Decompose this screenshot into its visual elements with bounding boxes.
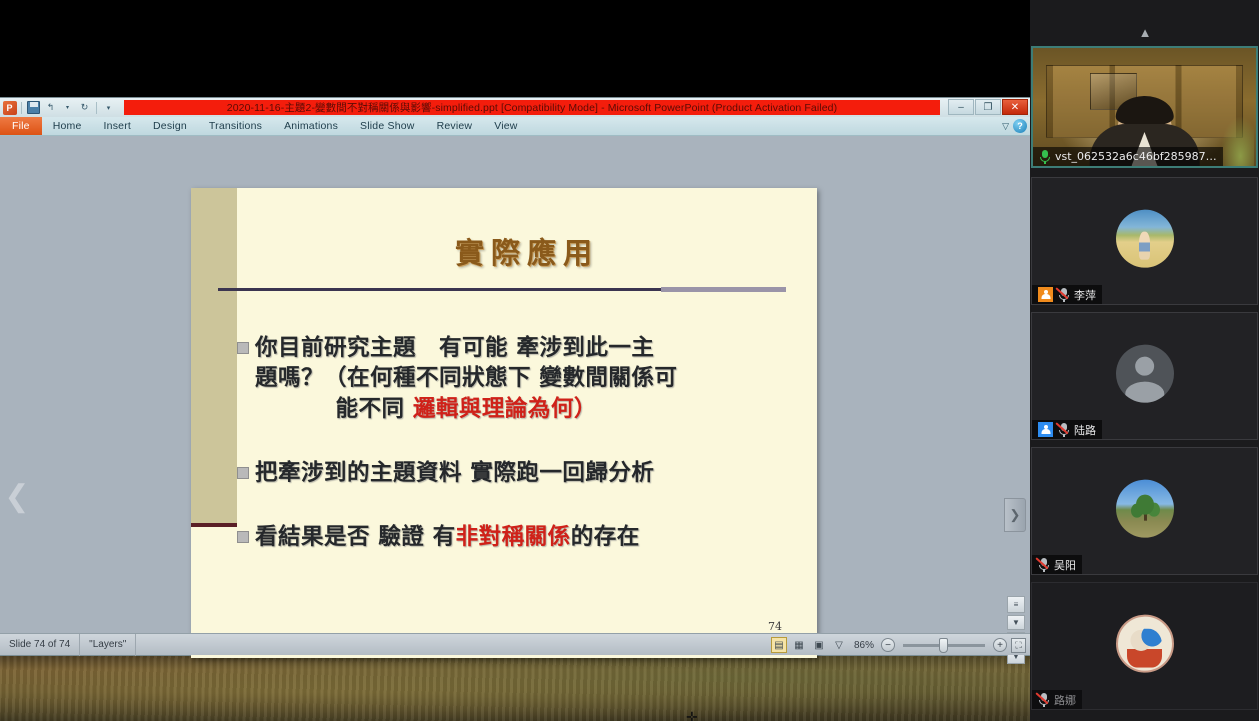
tab-review[interactable]: Review xyxy=(426,117,484,135)
participant-name: vst_062532a6c46bf285987… xyxy=(1055,150,1217,163)
background-plant xyxy=(1220,116,1254,166)
slide-page-number: 74 xyxy=(768,620,782,633)
avatar xyxy=(1116,480,1174,538)
participant-tile[interactable]: 吴阳 xyxy=(1031,447,1258,575)
bullet-line: 題嗎？（在何種不同狀態下 變數間關係可 xyxy=(255,365,677,391)
ribbon-tab-bar: File Home Insert Design Transitions Anim… xyxy=(0,117,1030,136)
bullet-line-tail: 的存在 xyxy=(571,524,640,550)
qat-divider-2 xyxy=(96,102,97,114)
tab-slide-show[interactable]: Slide Show xyxy=(349,117,426,135)
slide-work-area: ❮ ❯ 實際應用 你目前研究主題 有可能 牽涉到此一主 題嗎？（在何種不同狀態下… xyxy=(0,136,1030,633)
bullet-line: 能不同 xyxy=(335,396,412,422)
bullet-square-icon xyxy=(237,342,249,354)
microphone-muted-icon xyxy=(1038,693,1049,707)
avatar xyxy=(1116,345,1174,403)
undo-icon[interactable]: ↰ xyxy=(43,100,58,115)
participant-nameplate: 陆路 xyxy=(1032,420,1102,439)
microphone-muted-icon xyxy=(1058,288,1069,302)
ribbon-right-controls: ▽ ? xyxy=(1002,119,1027,133)
powerpoint-window: P ↰ ▾ ↻ ▾ 2020-11-16-主題2-變數間不對稱關係與影響-sim… xyxy=(0,98,1030,655)
status-slide-counter: Slide 74 of 74 xyxy=(0,634,80,656)
avatar xyxy=(1116,615,1174,673)
participant-tile[interactable]: 路娜 xyxy=(1031,582,1258,710)
participant-name: 路娜 xyxy=(1054,692,1076,708)
participant-nameplate: 路娜 xyxy=(1032,690,1082,709)
slide-sorter-button[interactable]: ▦ xyxy=(791,637,807,653)
slide-decor-band xyxy=(191,188,237,523)
powerpoint-logo-icon[interactable]: P xyxy=(2,100,17,115)
participant-tile-active-speaker[interactable]: vst_062532a6c46bf285987… xyxy=(1031,46,1258,168)
mouse-cursor: ✛ xyxy=(686,710,700,721)
tab-transitions[interactable]: Transitions xyxy=(198,117,273,135)
participant-name: 吴阳 xyxy=(1054,557,1076,573)
microphone-muted-icon xyxy=(1038,558,1049,572)
bullet-line: 你目前研究主題 有可能 牽涉到此一主 xyxy=(255,335,654,361)
participant-tile[interactable]: 陆路 xyxy=(1031,312,1258,440)
slide-body[interactable]: 你目前研究主題 有可能 牽涉到此一主 題嗎？（在何種不同狀態下 變數間關係可 能… xyxy=(237,333,817,558)
quick-access-toolbar: P ↰ ▾ ↻ ▾ xyxy=(0,100,116,115)
minimize-button[interactable]: – xyxy=(948,99,974,115)
person-hair xyxy=(1115,96,1173,126)
bullet-text: 把牽涉到的主題資料 實際跑一回歸分析 xyxy=(255,458,654,488)
qat-divider xyxy=(21,102,22,114)
tab-home[interactable]: Home xyxy=(42,117,93,135)
bullet-text: 看結果是否 驗證 有非對稱關係的存在 xyxy=(255,522,640,552)
status-right-controls: ▤ ▦ ▣ ▽ 86% − + ⛶ xyxy=(771,634,1026,656)
list-item[interactable]: 你目前研究主題 有可能 牽涉到此一主 題嗎？（在何種不同狀態下 變數間關係可 能… xyxy=(237,333,817,424)
window-controls: – ❐ ✕ xyxy=(948,99,1028,115)
bullet-line: 看結果是否 驗證 有 xyxy=(255,524,456,550)
slide-show-button[interactable]: ▽ xyxy=(831,637,847,653)
microphone-on-icon xyxy=(1039,150,1050,164)
normal-view-button[interactable]: ▤ xyxy=(771,637,787,653)
participant-nameplate: 吴阳 xyxy=(1032,555,1082,574)
microphone-muted-icon xyxy=(1058,423,1069,437)
powerpoint-logo-glyph: P xyxy=(3,101,17,115)
zoom-slider[interactable] xyxy=(903,644,985,647)
wallpaper-strip xyxy=(0,648,1030,721)
scrollbar-thumb[interactable]: ≡ xyxy=(1007,596,1025,613)
powerpoint-titlebar: P ↰ ▾ ↻ ▾ 2020-11-16-主題2-變數間不對稱關係與影響-sim… xyxy=(0,98,1030,117)
list-item[interactable]: 看結果是否 驗證 有非對稱關係的存在 xyxy=(237,522,817,552)
reading-view-button[interactable]: ▣ xyxy=(811,637,827,653)
fit-slide-to-window-button[interactable]: ⛶ xyxy=(1011,638,1026,653)
slide-title[interactable]: 實際應用 xyxy=(237,230,817,272)
list-item[interactable]: 把牽涉到的主題資料 實際跑一回歸分析 xyxy=(237,458,817,488)
collapse-filmstrip-icon[interactable]: ▲ xyxy=(1134,26,1156,38)
save-icon[interactable] xyxy=(26,100,41,115)
tab-animations[interactable]: Animations xyxy=(273,117,349,135)
help-icon[interactable]: ? xyxy=(1013,119,1027,133)
pane-expand-handle[interactable]: ❯ xyxy=(1004,498,1026,532)
minimize-ribbon-icon[interactable]: ▽ xyxy=(1002,121,1009,132)
customize-qat-icon[interactable]: ▾ xyxy=(101,100,116,115)
scroll-down-button[interactable]: ▼ xyxy=(1007,615,1025,630)
bullet-emphasis: 非對稱關係 xyxy=(456,524,571,550)
avatar-badge-icon xyxy=(1038,287,1053,302)
zoom-level-label: 86% xyxy=(851,640,877,651)
window-title: 2020-11-16-主題2-變數間不對稱關係與影響-simplified.pp… xyxy=(124,100,940,115)
slide-canvas[interactable]: 實際應用 你目前研究主題 有可能 牽涉到此一主 題嗎？（在何種不同狀態下 變數間… xyxy=(191,188,817,658)
undo-dropdown-icon[interactable]: ▾ xyxy=(60,100,75,115)
restore-button[interactable]: ❐ xyxy=(975,99,1001,115)
redo-icon[interactable]: ↻ xyxy=(77,100,92,115)
prev-slide-arrow[interactable]: ❮ xyxy=(0,468,34,524)
desktop-backdrop-top xyxy=(0,0,1030,98)
participant-nameplate: 李萍 xyxy=(1032,285,1102,304)
zoom-in-button[interactable]: + xyxy=(993,638,1007,652)
zoom-out-button[interactable]: − xyxy=(881,638,895,652)
tab-design[interactable]: Design xyxy=(142,117,198,135)
screen: P ↰ ▾ ↻ ▾ 2020-11-16-主題2-變數間不對稱關係與影響-sim… xyxy=(0,0,1259,721)
avatar xyxy=(1116,210,1174,268)
slide-decor-band-accent xyxy=(191,523,237,527)
participant-name: 陆路 xyxy=(1074,422,1096,438)
zoom-participant-filmstrip: ▲ vst_0 xyxy=(1030,0,1259,721)
tab-file[interactable]: File xyxy=(0,117,42,135)
participant-nameplate: vst_062532a6c46bf285987… xyxy=(1033,147,1223,166)
participant-name: 李萍 xyxy=(1074,287,1096,303)
tab-insert[interactable]: Insert xyxy=(93,117,142,135)
bullet-text: 你目前研究主題 有可能 牽涉到此一主 題嗎？（在何種不同狀態下 變數間關係可 能… xyxy=(255,333,677,424)
status-bar: Slide 74 of 74 "Layers" ▤ ▦ ▣ ▽ 86% − + … xyxy=(0,633,1030,655)
avatar-badge-icon xyxy=(1038,422,1053,437)
bullet-square-icon xyxy=(237,467,249,479)
tab-view[interactable]: View xyxy=(483,117,528,135)
slide-title-rule-accent xyxy=(661,287,786,292)
status-theme-name: "Layers" xyxy=(80,634,136,656)
bullet-emphasis: 邏輯與理論為何） xyxy=(413,396,597,422)
bullet-square-icon xyxy=(237,531,249,543)
close-button[interactable]: ✕ xyxy=(1002,99,1028,115)
zoom-slider-thumb[interactable] xyxy=(939,638,948,653)
participant-tile[interactable]: 李萍 xyxy=(1031,177,1258,305)
